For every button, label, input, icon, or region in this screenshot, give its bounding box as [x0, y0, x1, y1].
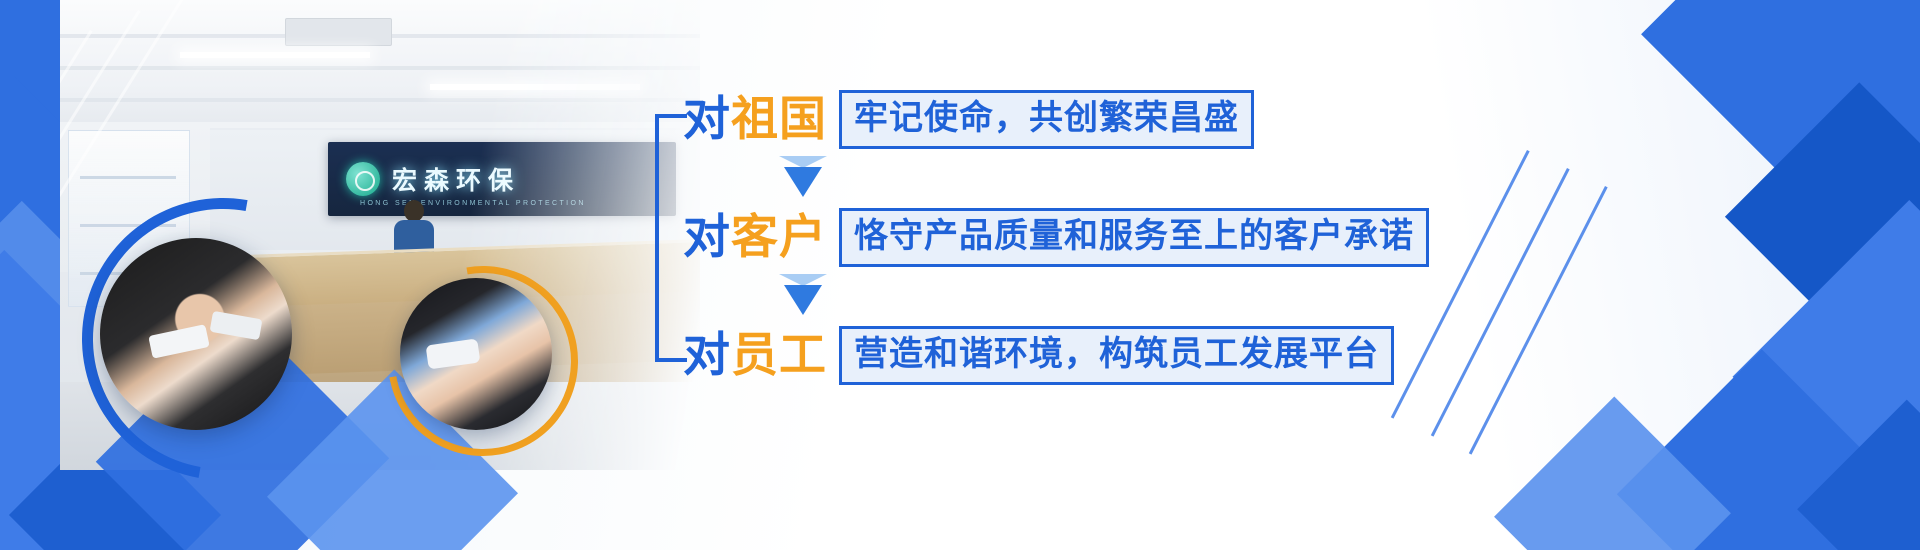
corporate-values-banner: 宏森环保 HONG SEN ENVIRONMENTAL PROTECTION: [0, 0, 1920, 550]
value-subject-3: 员工: [731, 328, 827, 383]
value-statement-3: 营造和谐环境，构筑员工发展平台: [839, 326, 1394, 385]
value-row-1: 对祖国 牢记使命，共创繁荣昌盛: [683, 90, 1254, 149]
handshake-circle-photo: [100, 238, 292, 430]
value-row-3: 对员工 营造和谐环境，构筑员工发展平台: [683, 326, 1394, 385]
ceiling-light-1: [180, 52, 370, 58]
value-statement-1: 牢记使命，共创繁荣昌盛: [839, 90, 1254, 149]
value-label-2: 对客户: [683, 214, 827, 261]
value-prefix-1: 对: [683, 92, 731, 147]
company-logo-text: 宏森环保: [392, 161, 520, 197]
ceiling-vent-icon: [285, 18, 392, 46]
arrow-2-bottom: [784, 285, 822, 315]
value-prefix-2: 对: [683, 210, 731, 265]
value-prefix-3: 对: [683, 328, 731, 383]
value-subject-2: 客户: [731, 210, 827, 265]
ceiling-light-2: [430, 84, 640, 90]
ceiling-line-3: [60, 98, 700, 102]
values-list: 对祖国 牢记使命，共创繁荣昌盛 对客户 恪守产品质量和服务至上的客户承诺 对员工…: [655, 78, 1375, 388]
ceiling-line-2: [60, 66, 700, 70]
value-label-3: 对员工: [683, 332, 827, 379]
applause-circle-photo: [400, 278, 552, 430]
arrow-1-bottom: [784, 167, 822, 197]
value-row-2: 对客户 恪守产品质量和服务至上的客户承诺: [683, 208, 1429, 267]
value-subject-1: 祖国: [731, 92, 827, 147]
globe-leaf-icon: [346, 162, 380, 196]
value-statement-2: 恪守产品质量和服务至上的客户承诺: [839, 208, 1429, 267]
figure-head: [404, 200, 424, 222]
shelf-1: [80, 176, 176, 179]
value-label-1: 对祖国: [683, 96, 827, 143]
